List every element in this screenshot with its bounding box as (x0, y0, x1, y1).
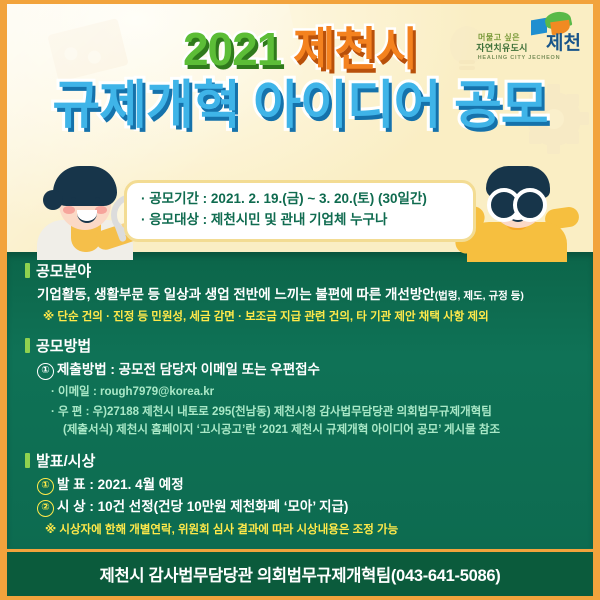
apply-form-line: (제출서식) 제천시 홈페이지 ‘고시공고’란 ‘2021 제천시 규제개혁 아… (7, 422, 593, 439)
section-announcement-award: 발표/시상 ①발 표 : 2021. 4월 예정 ②시 상 : 10건 선정(건… (7, 440, 593, 538)
heading-text: 공모분야 (36, 260, 91, 281)
section-heading-contest-field: 공모분야 (7, 260, 593, 281)
apply-item-1: ①제출방법 : 공모전 담당자 이메일 또는 우편접수 (7, 361, 593, 380)
heading-text: 공모방법 (36, 335, 91, 356)
award-note: ※ 시상자에 한해 개별연락, 위원회 심사 결과에 따라 시상내용은 조정 가… (7, 522, 593, 538)
section-heading-how-to-apply: 공모방법 (7, 335, 593, 356)
title-year: 2021 (183, 23, 281, 75)
section-how-to-apply: 공모방법 ①제출방법 : 공모전 담당자 이메일 또는 우편접수 · 이메일 :… (7, 325, 593, 440)
footer-contact-text: 제천시 감사법무담당관 의회법무규제개혁팀(043-641-5086) (100, 562, 501, 586)
content-body: 공모분야 기업활동, 생활부문 등 일상과 생업 전반에 느끼는 불편에 따른 … (7, 252, 593, 548)
item-number-1: ① (37, 478, 54, 495)
apply-postal-line: · 우 편 : 우)27188 제천시 내토로 295(천남동) 제천시청 감사… (7, 404, 593, 421)
title-city: 제천시 (293, 23, 417, 75)
contest-field-body: 기업활동, 생활부문 등 일상과 생업 전반에 느끼는 불편에 따른 개선방안(… (7, 286, 593, 305)
item-number-2: ② (37, 500, 54, 517)
logo-tagline: 머물고 싶은 (455, 34, 543, 43)
info-eligibility: · 응모대상 : 제천시민 및 관내 기업체 누구나 (141, 210, 459, 231)
poster-root: 머물고 싶은 자연치유도시 제천 HEALING CITY JECHEON 20… (0, 0, 600, 600)
award-item-2: ②시 상 : 10건 선정(건당 10만원 제천화폐 ‘모아’ 지급) (7, 498, 593, 517)
section-heading-announcement-award: 발표/시상 (7, 450, 593, 471)
item-number-1: ① (37, 363, 54, 380)
logo-city-line: 자연치유도시 (455, 43, 549, 54)
award-item-1: ①발 표 : 2021. 4월 예정 (7, 476, 593, 495)
info-box: · 공모기간 : 2021. 2. 19.(금) ~ 3. 20.(토) (30… (124, 180, 476, 242)
heading-bar-icon (25, 453, 30, 468)
heading-bar-icon (25, 338, 30, 353)
jecheon-city-logo: 머물고 싶은 자연치유도시 제천 HEALING CITY JECHEON (455, 12, 583, 68)
logo-english: HEALING CITY JECHEON (455, 55, 583, 61)
logo-city-name: 제천 (546, 28, 581, 55)
contest-field-note: ※ 단순 건의 · 진정 등 민원성, 세금 감면 · 보조금 지급 관련 건의… (7, 309, 593, 325)
apply-email-line: · 이메일 : rough7979@korea.kr (7, 384, 593, 401)
section-contest-field: 공모분야 기업활동, 생활부문 등 일상과 생업 전반에 느끼는 불편에 따른 … (7, 252, 593, 325)
heading-text: 발표/시상 (36, 450, 95, 471)
footer-contact-bar: 제천시 감사법무담당관 의회법무규제개혁팀(043-641-5086) (7, 549, 593, 596)
info-period: · 공모기간 : 2021. 2. 19.(금) ~ 3. 20.(토) (30… (141, 189, 459, 210)
heading-bar-icon (25, 263, 30, 278)
title-line-2: 규제개혁 아이디어 공모 (7, 80, 593, 132)
